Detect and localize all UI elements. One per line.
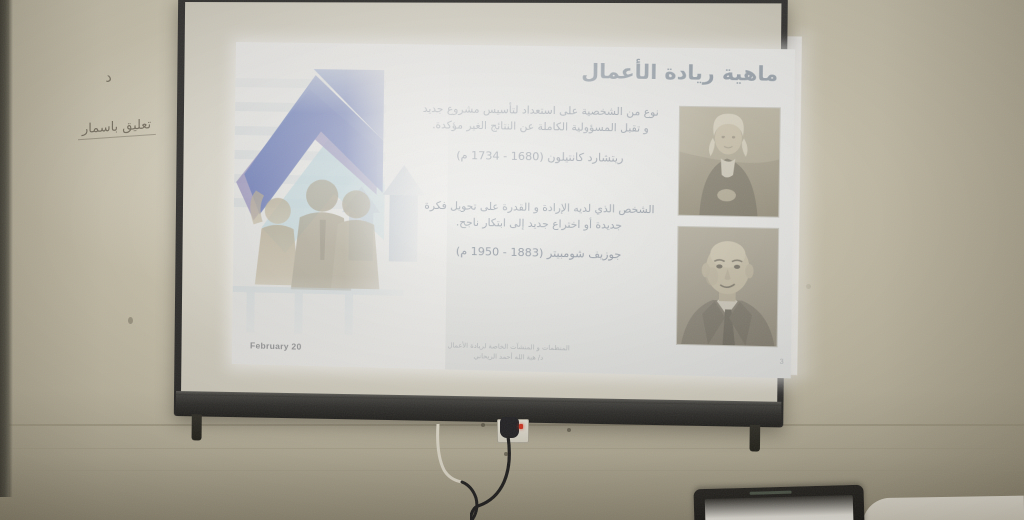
desk-surface <box>862 496 1024 520</box>
attribution-text: جوزيف شومبيتر (1883 - 1950 م) <box>418 244 659 262</box>
laptop-hinge <box>750 491 792 495</box>
whiteboard-mount-right <box>749 425 760 452</box>
joseph-schumpeter-portrait <box>677 227 778 346</box>
plug-indicator-led <box>519 424 523 429</box>
door-frame-shadow <box>9 0 13 497</box>
whiteboard-mount-left <box>192 414 202 440</box>
power-plug[interactable] <box>500 417 519 438</box>
attribution-text: ريتشارد كانتيلون (1680 - 1734 م) <box>419 148 660 165</box>
definition-block-cantillon: نوع من الشخصية على استعداد لتأسيس مشروع … <box>419 101 661 165</box>
wall-smudge <box>128 317 133 324</box>
door-frame-edge <box>0 0 9 497</box>
definition-text: نوع من الشخصية على استعداد لتأسيس مشروع … <box>420 101 662 138</box>
presentation-slide: ماهية ريادة الأعمال نوع من الشخصية على ا… <box>232 42 795 378</box>
growth-arrow-graphic <box>232 42 450 369</box>
definition-block-schumpeter: الشخص الذي لديه الإرادة و القدرة على تحو… <box>418 197 660 262</box>
laptop[interactable] <box>693 485 864 520</box>
slide-title: ماهية ريادة الأعمال <box>469 57 778 86</box>
slide-body: نوع من الشخصية على استعداد لتأسيس مشروع … <box>418 101 661 273</box>
richard-cantillon-portrait <box>679 107 780 217</box>
slide-page-number: 3 <box>780 359 784 366</box>
graphic-top-fade <box>235 42 449 115</box>
wall-screw <box>567 428 571 432</box>
classroom-photo-scene: د تعليق باسمار <box>0 0 1024 520</box>
definition-text: الشخص الذي لديه الإرادة و القدرة على تحو… <box>419 197 661 235</box>
laptop-screen[interactable] <box>705 495 854 520</box>
white-cable <box>432 424 488 520</box>
projected-slide: ماهية ريادة الأعمال نوع من الشخصية على ا… <box>232 42 795 378</box>
